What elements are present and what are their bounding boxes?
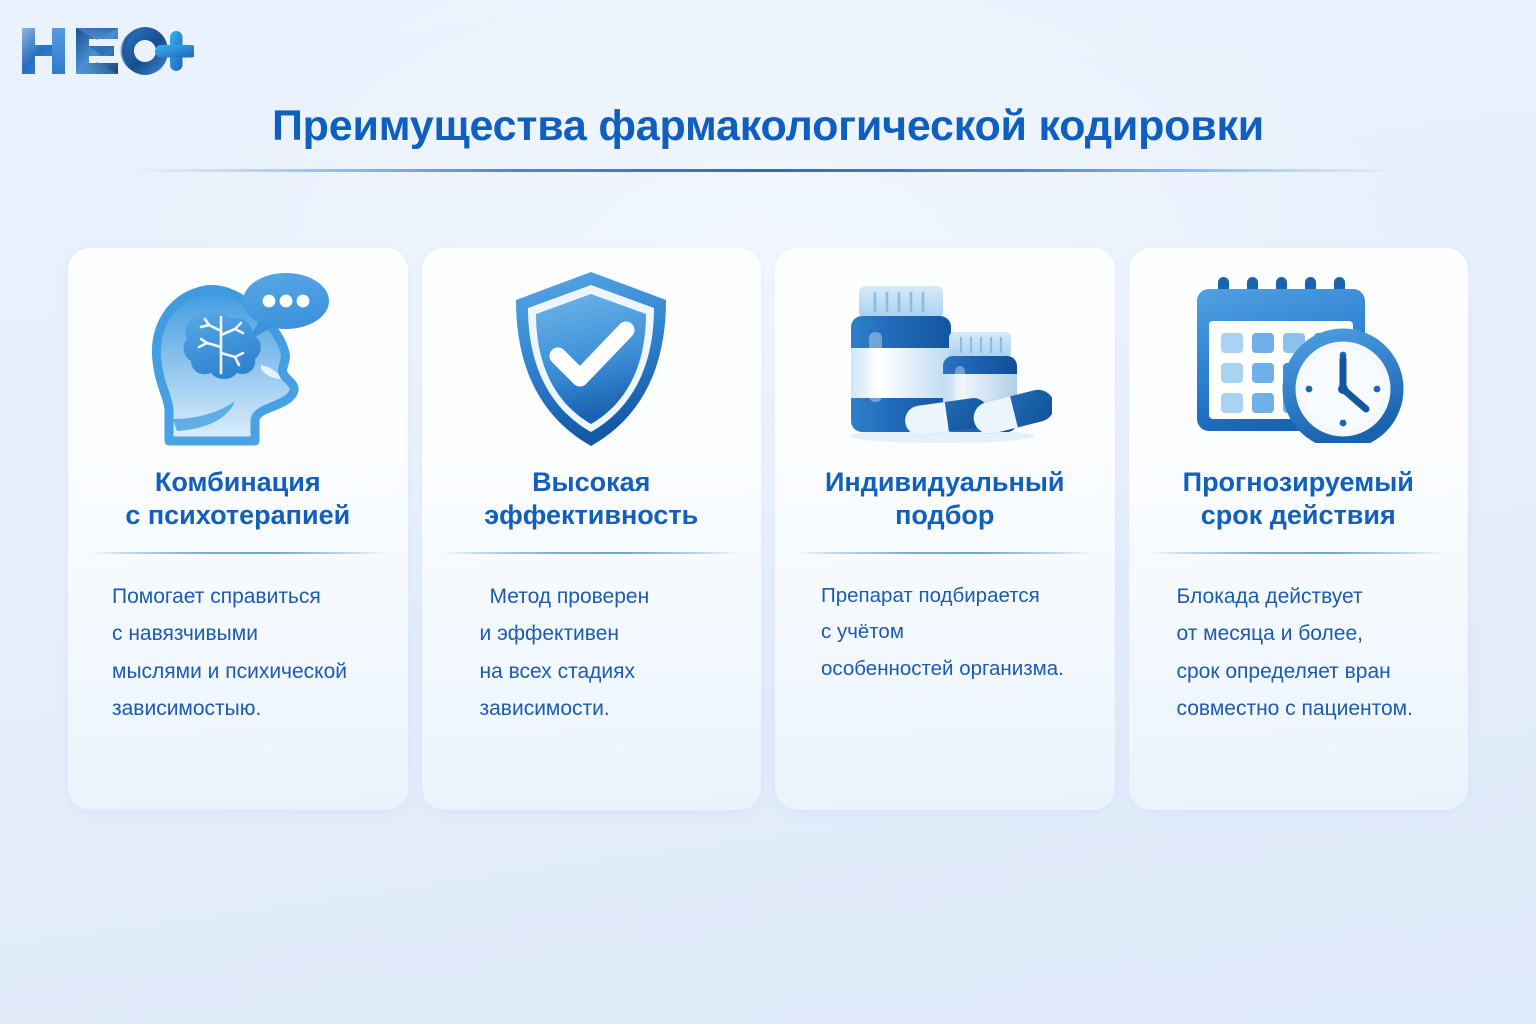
card-title-line: Индивидуальный (825, 467, 1065, 497)
card-title: Индивидуальный подбор (819, 466, 1071, 532)
calendar-clock-icon (1143, 248, 1455, 464)
card-title-line: Комбинация (155, 467, 321, 497)
card-body-line: на всех стадиях (480, 653, 728, 690)
head-brain-speech-bubble-icon (82, 248, 394, 464)
card-divider (442, 552, 740, 554)
card-body-line: с навязчивыми (112, 615, 374, 652)
card-body: Помогает справиться с навязчивыми мыслям… (82, 578, 394, 728)
card-title-line: подбор (895, 500, 994, 530)
card-body-line: зависимостыю. (112, 690, 374, 727)
card-body: Метод проверен и эффективен на всех стад… (436, 578, 748, 728)
benefit-cards: Комбинация с психотерапией Помогает спра… (68, 248, 1468, 810)
card-body-line: и эффективен (480, 615, 728, 652)
card-body-line: зависимости. (480, 690, 728, 727)
card-combination-psychotherapy[interactable]: Комбинация с психотерапией Помогает спра… (68, 248, 408, 810)
card-body-line: Препарат подбирается (821, 578, 1081, 614)
card-title-line: с психотерапией (125, 500, 350, 530)
card-body-line: Блокада действует (1177, 578, 1435, 615)
card-divider (89, 552, 387, 554)
card-body-line: с учётом (821, 614, 1081, 650)
card-body: Блокада действует от месяца и более, сро… (1143, 578, 1455, 728)
pill-bottles-capsules-icon (789, 248, 1101, 464)
card-individual-selection[interactable]: Индивидуальный подбор Препарат подбирает… (775, 248, 1115, 810)
card-divider (796, 552, 1094, 554)
card-divider (1149, 552, 1447, 554)
card-body-line: Метод проверен (480, 578, 728, 615)
card-title-line: срок действия (1201, 500, 1396, 530)
card-title: Прогнозируемый срок действия (1177, 466, 1420, 532)
card-title: Высокая эффективность (478, 466, 704, 532)
page-title: Преимущества фармакологической кодировки (0, 104, 1536, 149)
card-title-line: Высокая (532, 467, 650, 497)
infographic-page: Преимущества фармакологической кодировки (0, 0, 1536, 1024)
card-body-line: от месяца и более, (1177, 615, 1435, 652)
brand-logo (18, 20, 194, 82)
card-body-line: срок определяет вран (1177, 653, 1435, 690)
card-predictable-duration[interactable]: Прогнозируемый срок действия Блокада дей… (1129, 248, 1469, 810)
title-block: Преимущества фармакологической кодировки (0, 104, 1536, 172)
card-body-line: Помогает справиться (112, 578, 374, 615)
card-title: Комбинация с психотерапией (119, 466, 356, 532)
card-body-line: совместно с пациентом. (1177, 690, 1435, 727)
card-high-effectiveness[interactable]: Высокая эффективность Метод проверен и э… (422, 248, 762, 810)
neo-plus-logo-icon (18, 22, 194, 80)
card-title-line: Прогнозируемый (1183, 467, 1414, 497)
card-body-line: мыслями и психической (112, 653, 374, 690)
title-divider (132, 169, 1404, 172)
card-title-line: эффективность (484, 500, 698, 530)
card-body-line: особенностей организма. (821, 651, 1081, 687)
card-body: Препарат подбирается с учётом особенност… (789, 578, 1101, 687)
shield-checkmark-icon (436, 248, 748, 464)
